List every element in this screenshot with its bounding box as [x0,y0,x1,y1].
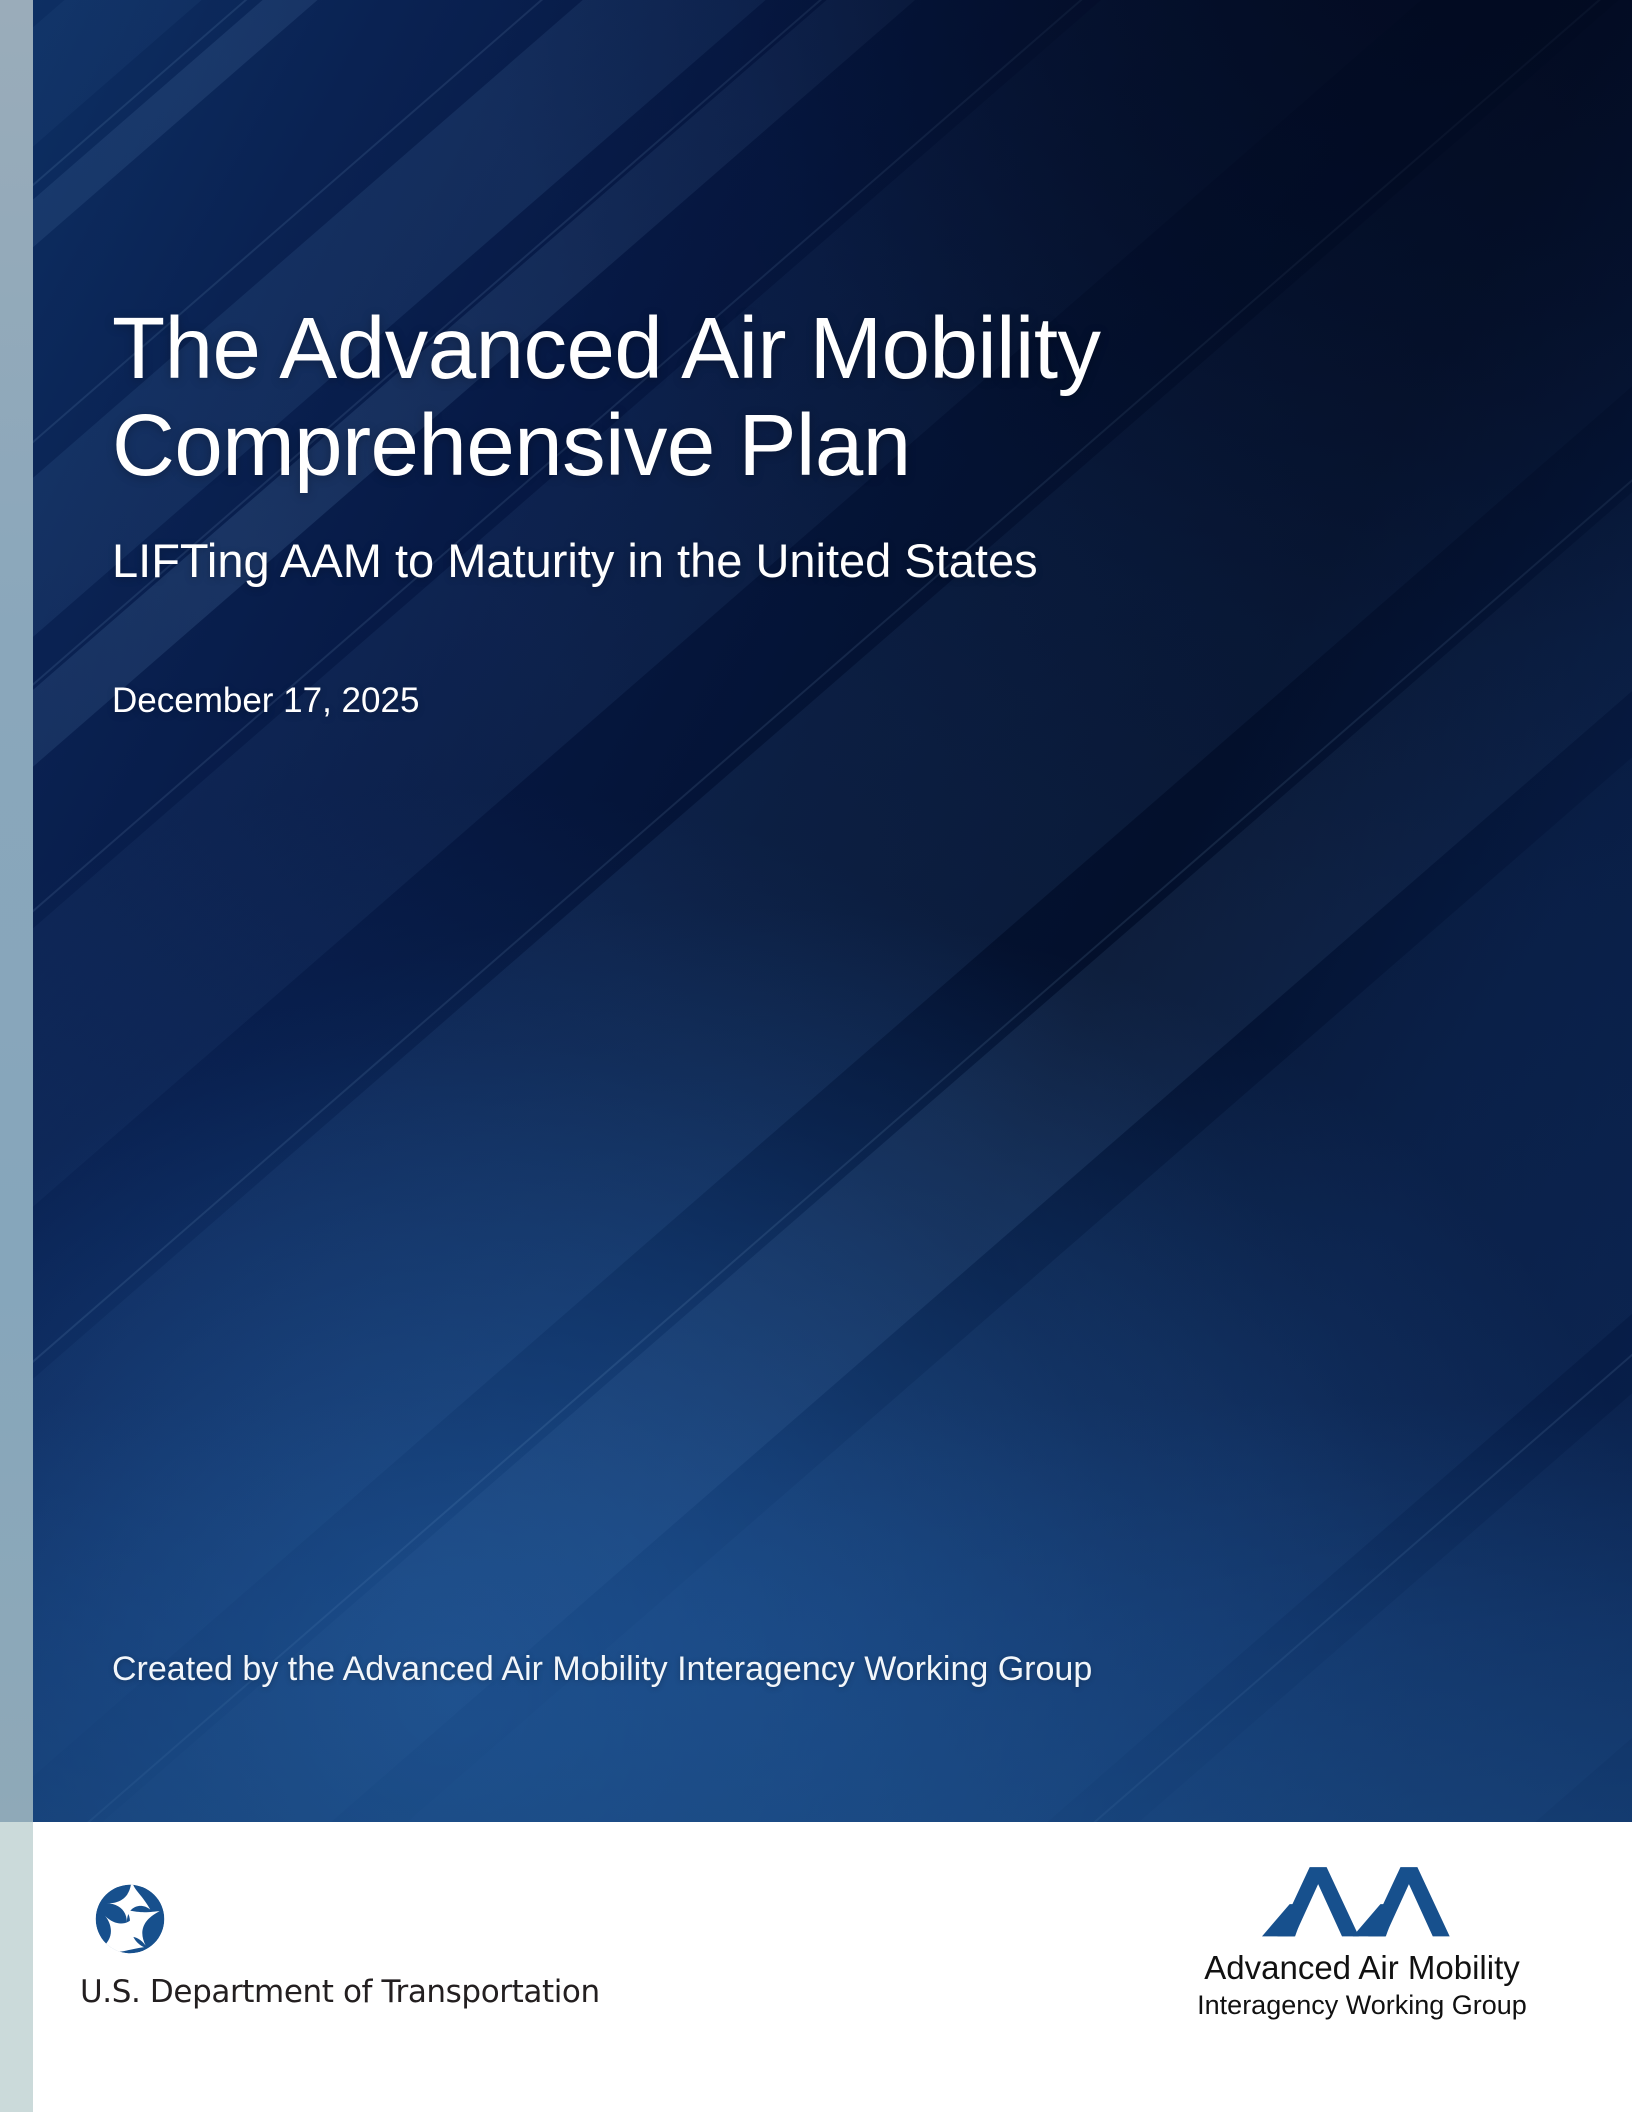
hairline-4 [33,0,1632,1788]
aam-logo-name: Advanced Air Mobility [1152,1950,1572,1987]
aam-double-chevron-logo-icon [1262,1862,1462,1940]
page-title: The Advanced Air Mobility Comprehensive … [112,300,1412,495]
aam-logo-block: Advanced Air Mobility Interagency Workin… [1152,1862,1572,2021]
cover-text-block: The Advanced Air Mobility Comprehensive … [112,300,1412,721]
cover-hero-panel [33,0,1632,1822]
aam-logo-subname: Interagency Working Group [1152,1989,1572,2021]
dot-logo-block: U.S. Department of Transportation [80,1880,500,2010]
hairline-6 [227,606,1632,1822]
document-cover-page: The Advanced Air Mobility Comprehensive … [0,0,1632,2112]
hero-bottom-tint [33,1402,1632,1822]
ribbon-c [33,0,1632,1699]
cover-footer-band: U.S. Department of Transportation Advanc… [33,1822,1632,2112]
ribbon-d [33,0,1632,1822]
page-subtitle: LIFTing AAM to Maturity in the United St… [112,533,1412,589]
hero-corner-vignette [33,0,1632,1822]
ribbon-b [33,0,1513,1449]
publication-date: December 17, 2025 [112,681,1412,721]
dot-triskelion-seal-icon [91,1880,169,1958]
left-accent-strip-bottom [0,1822,33,2112]
diagonal-light-ribbons [33,0,1632,1822]
dot-logo-label: U.S. Department of Transportation [80,1974,500,2010]
left-accent-strip-top [0,0,33,1822]
ribbon-i [247,629,1632,1822]
author-credit-line: Created by the Advanced Air Mobility Int… [112,1650,1092,1689]
hairline-3 [33,0,1585,1532]
